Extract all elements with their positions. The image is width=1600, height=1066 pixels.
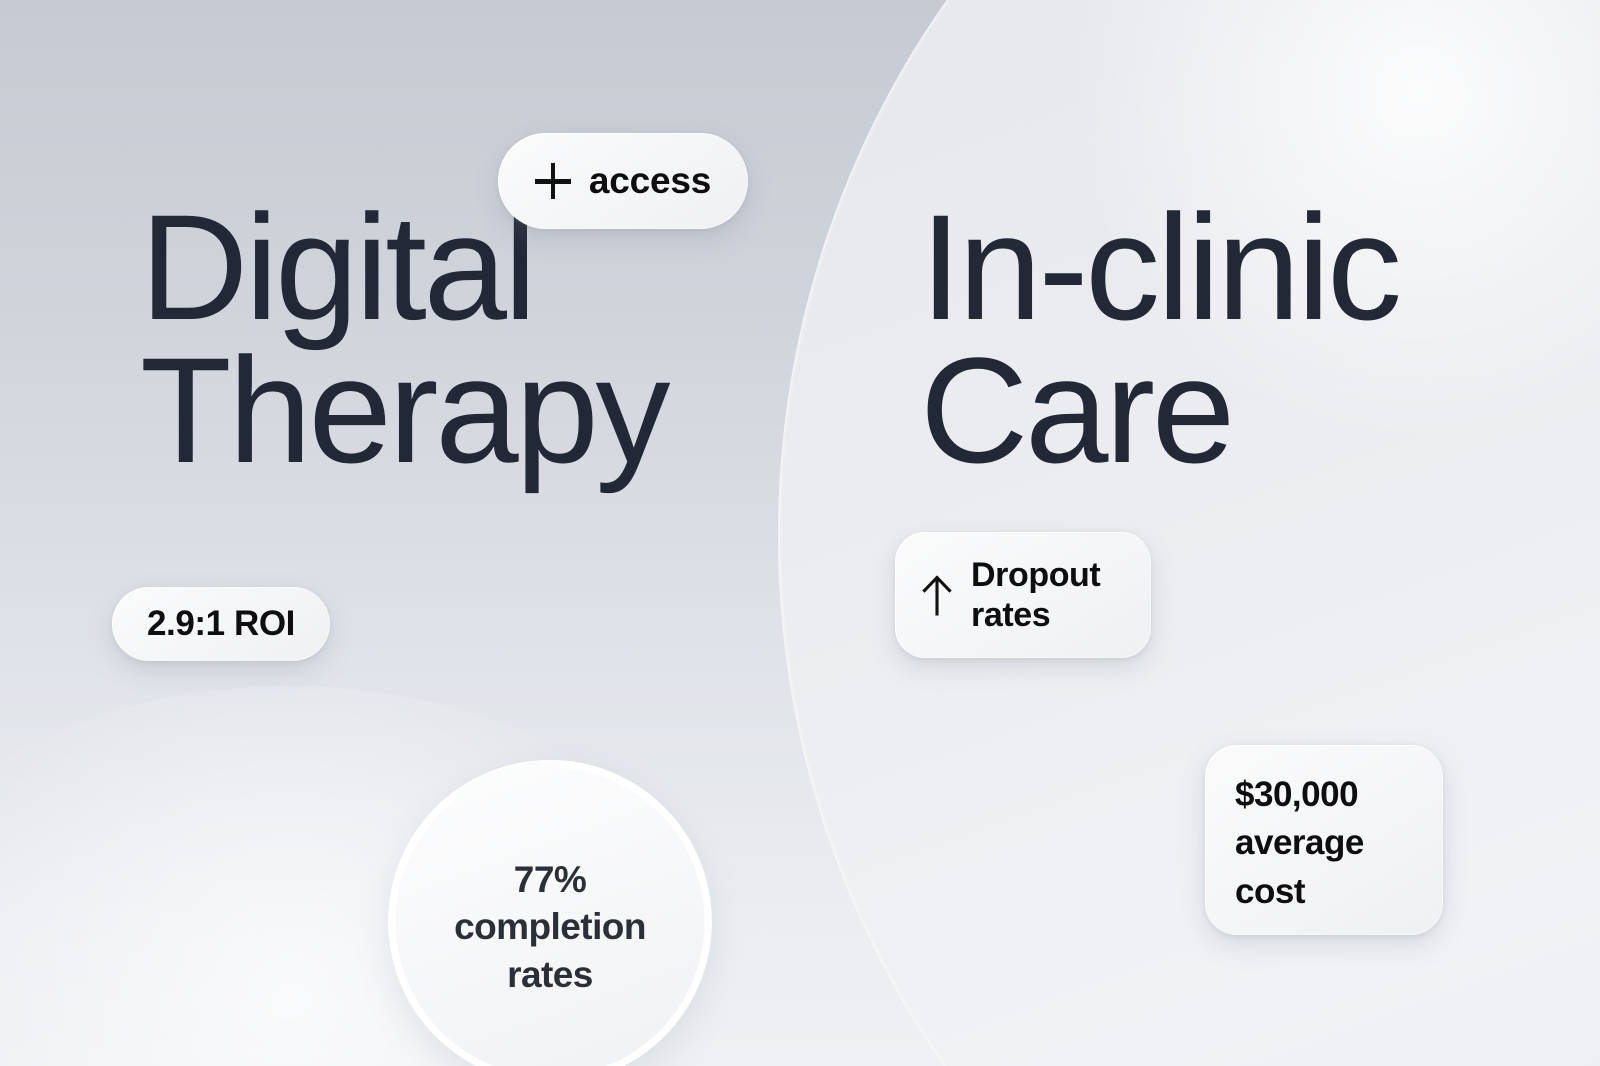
left-panel-title: Digital Therapy — [140, 196, 667, 481]
chip-average-cost[interactable]: $30,000 average cost — [1205, 745, 1443, 935]
chip-cost-label: $30,000 average cost — [1235, 771, 1364, 916]
ring-caption: completion rates — [454, 903, 646, 998]
chip-access[interactable]: access — [498, 133, 748, 229]
chip-dropout-rates[interactable]: Dropout rates — [895, 532, 1151, 658]
ring-value: 77% — [514, 856, 586, 903]
arrow-up-icon — [917, 574, 957, 616]
chip-roi[interactable]: 2.9:1 ROI — [112, 587, 330, 661]
chip-roi-label: 2.9:1 ROI — [147, 604, 295, 644]
chip-dropout-label: Dropout rates — [971, 555, 1100, 635]
comparison-graphic: Digital Therapy In-clinic Care access 2.… — [0, 0, 1600, 1066]
plus-icon — [535, 163, 571, 199]
chip-access-label: access — [589, 160, 711, 202]
right-panel-title: In-clinic Care — [920, 196, 1399, 481]
completion-rate-ring[interactable]: 77% completion rates — [388, 760, 712, 1066]
ring-label-group: 77% completion rates — [388, 760, 712, 1066]
